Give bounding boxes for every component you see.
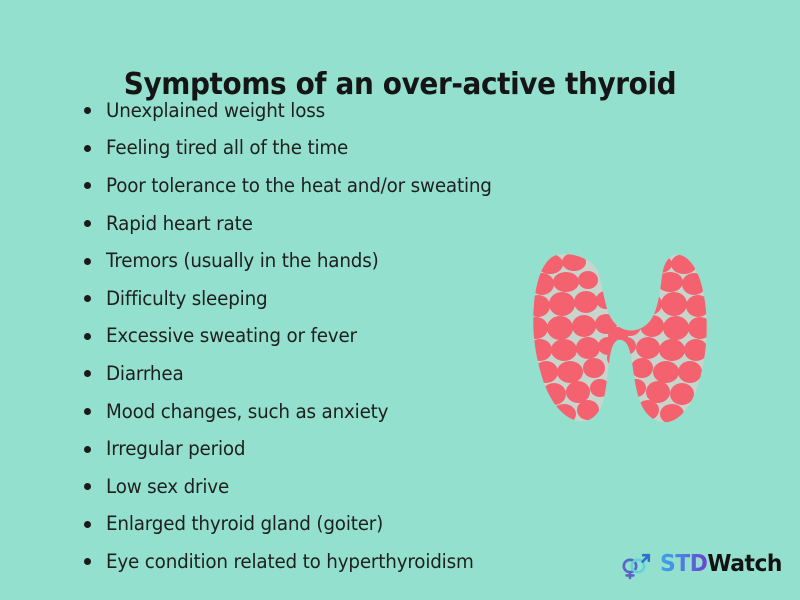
bullet-icon (84, 145, 91, 152)
bullet-icon (84, 408, 91, 415)
list-item: Enlarged thyroid gland (goiter) (84, 506, 624, 544)
list-item-label: Mood changes, such as anxiety (106, 400, 388, 424)
list-item-label: Difficulty sleeping (106, 287, 267, 311)
list-item-label: Irregular period (106, 437, 245, 461)
list-item: Feeling tired all of the time (84, 130, 624, 168)
list-item: Unexplained weight loss (84, 92, 624, 130)
bullet-icon (84, 333, 91, 340)
bullet-icon (84, 295, 91, 302)
list-item: Irregular period (84, 430, 624, 468)
infographic-canvas: Symptoms of an over-active thyroid Unexp… (0, 0, 800, 600)
list-item-label: Enlarged thyroid gland (goiter) (106, 512, 383, 536)
list-item-label: Unexplained weight loss (106, 99, 325, 123)
brand-logo[interactable]: STDWatch (620, 544, 788, 584)
list-item-label: Low sex drive (106, 475, 229, 499)
list-item-label: Tremors (usually in the hands) (106, 249, 379, 273)
bullet-icon (84, 220, 91, 227)
list-item-label: Feeling tired all of the time (106, 136, 348, 160)
gender-symbols-icon (620, 547, 654, 581)
bullet-icon (84, 258, 91, 265)
bullet-icon (84, 558, 91, 565)
bullet-icon (84, 370, 91, 377)
list-item-label: Poor tolerance to the heat and/or sweati… (106, 174, 492, 198)
brand-name-watch: Watch (707, 551, 782, 577)
brand-wordmark: STDWatch (660, 551, 782, 577)
list-item-label: Excessive sweating or fever (106, 324, 357, 348)
list-item: Poor tolerance to the heat and/or sweati… (84, 167, 624, 205)
thyroid-gland-illustration (516, 248, 716, 432)
list-item: Low sex drive (84, 468, 624, 506)
list-item: Eye condition related to hyperthyroidism (84, 543, 624, 581)
bullet-icon (84, 521, 91, 528)
bullet-icon (84, 483, 91, 490)
list-item: Rapid heart rate (84, 205, 624, 243)
bullet-icon (84, 107, 91, 114)
list-item-label: Eye condition related to hyperthyroidism (106, 550, 474, 574)
brand-name-std: STD (660, 551, 707, 577)
bullet-icon (84, 182, 91, 189)
bullet-icon (84, 446, 91, 453)
list-item-label: Diarrhea (106, 362, 183, 386)
list-item-label: Rapid heart rate (106, 212, 253, 236)
